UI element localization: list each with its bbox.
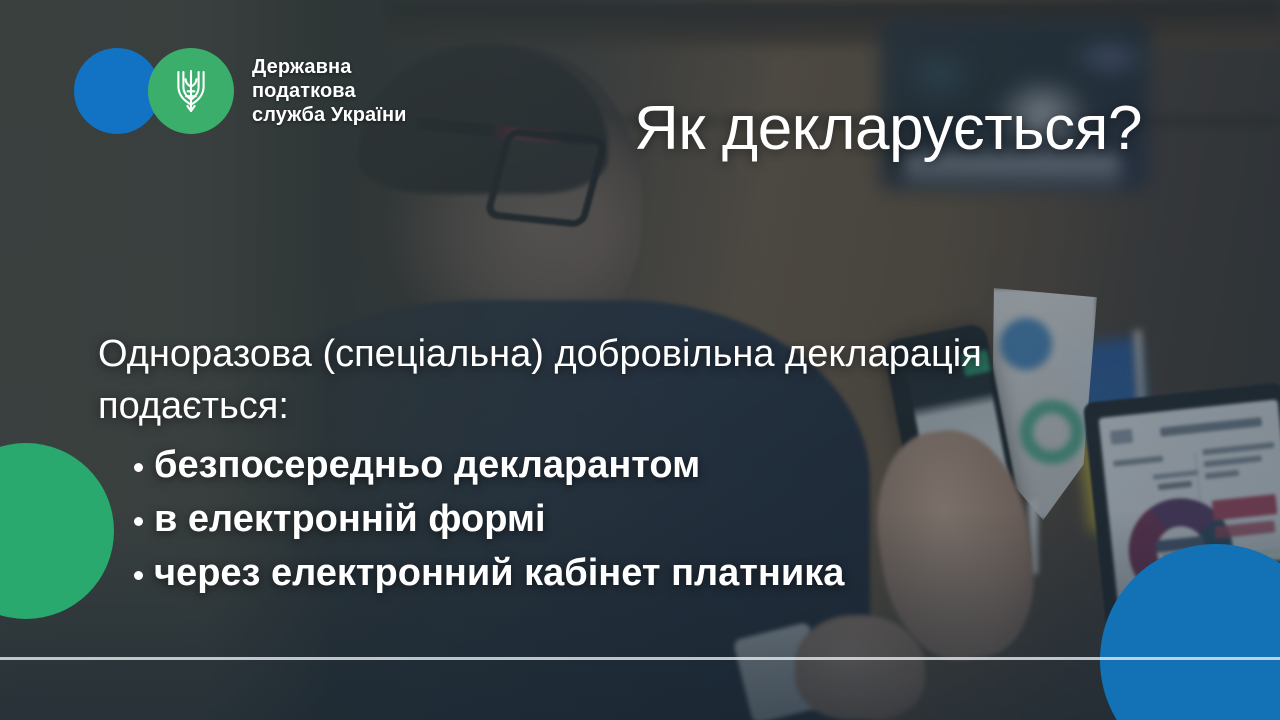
slide-canvas: Державна податкова служба України Як дек… (0, 0, 1280, 720)
brand-logo-text-line3: служба України (252, 104, 407, 126)
brand-logo-text: Державна податкова служба України (252, 55, 407, 128)
footer-divider-line (0, 657, 1280, 660)
lead-paragraph: Одноразова (спеціальна) добровільна декл… (98, 328, 998, 432)
list-item: безпосередньо декларантом (98, 438, 998, 492)
ukraine-trident-icon (171, 65, 211, 117)
page-title: Як декларується? (634, 98, 1142, 160)
list-item: через електронний кабінет платника (98, 546, 998, 600)
brand-logo-text-line2: податкова (252, 80, 356, 102)
main-content: Одноразова (спеціальна) добровільна декл… (98, 328, 998, 600)
bullet-list: безпосередньо декларантом в електронній … (98, 438, 998, 600)
logo-green-circle-icon (148, 48, 234, 134)
list-item: в електронній формі (98, 492, 998, 546)
brand-logo-text-line1: Державна (252, 56, 351, 78)
brand-logo[interactable]: Державна податкова служба України (74, 46, 407, 136)
